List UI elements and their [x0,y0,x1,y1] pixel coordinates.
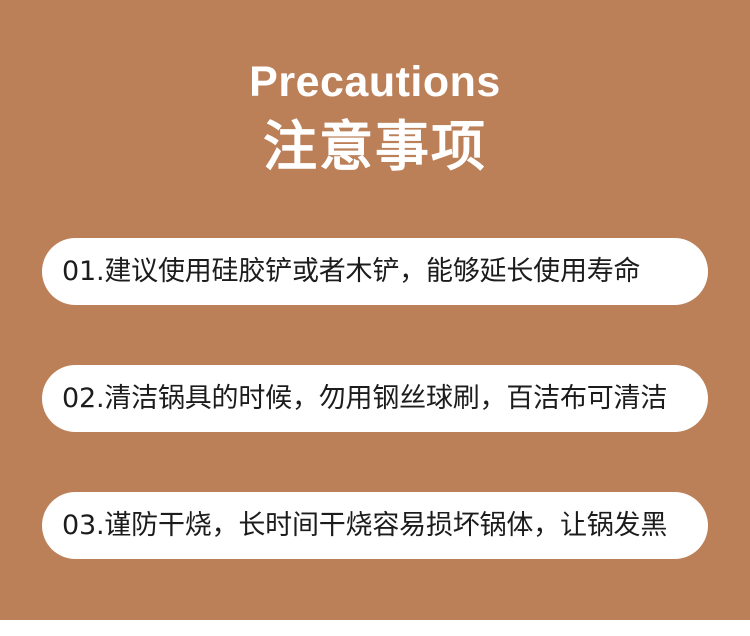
page-title-chinese: 注意事项 [0,120,750,174]
page-title-english: Precautions [0,61,750,104]
precautions-panel: Precautions 注意事项 01.建议使用硅胶铲或者木铲，能够延长使用寿命… [0,0,750,620]
bottom-white-strip [0,620,750,636]
precaution-item-01: 01.建议使用硅胶铲或者木铲，能够延长使用寿命 [42,238,708,305]
precaution-item-label: 02.清洁锅具的时候，勿用钢丝球刷，百洁布可清洁 [62,384,667,414]
precaution-item-03: 03.谨防干烧，长时间干烧容易损坏锅体，让锅发黑 [42,492,708,559]
precaution-item-label: 01.建议使用硅胶铲或者木铲，能够延长使用寿命 [62,257,640,287]
precaution-list: 01.建议使用硅胶铲或者木铲，能够延长使用寿命 02.清洁锅具的时候，勿用钢丝球… [42,238,708,559]
precaution-item-02: 02.清洁锅具的时候，勿用钢丝球刷，百洁布可清洁 [42,365,708,432]
precaution-item-label: 03.谨防干烧，长时间干烧容易损坏锅体，让锅发黑 [62,511,667,541]
